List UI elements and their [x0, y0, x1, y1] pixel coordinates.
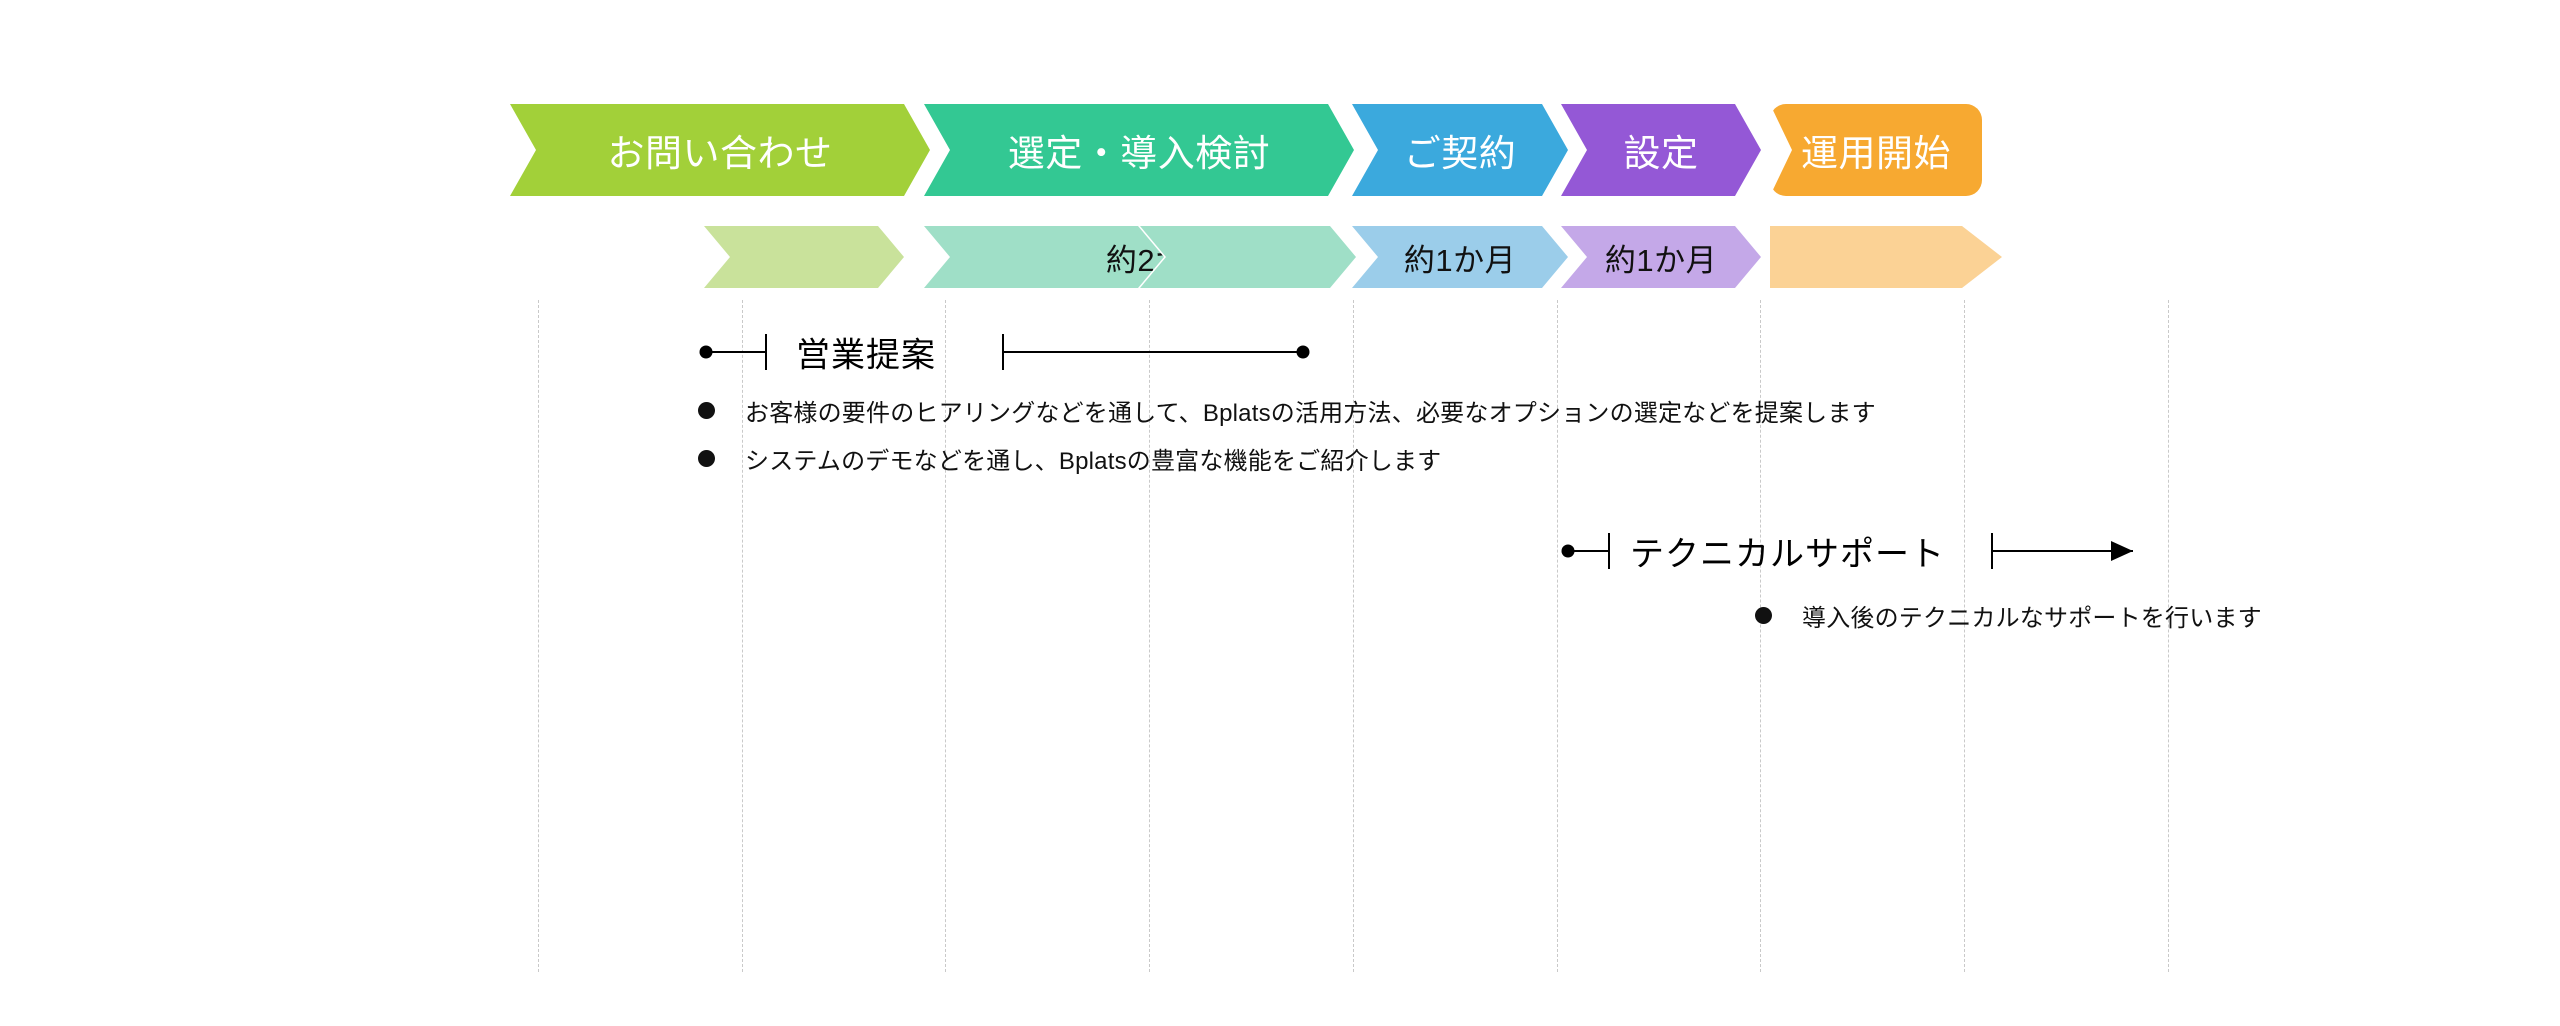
- track-line-right: [1003, 351, 1303, 353]
- track-label: テクニカルサポート: [1630, 527, 1945, 576]
- phase-chevron-1: 選定・導入検討: [924, 104, 1354, 196]
- track-line-left: [706, 351, 766, 353]
- duration-label: 約1か月: [1404, 235, 1516, 280]
- bullet-dot-icon: [698, 402, 715, 419]
- duration-chevron-1: 約2か月: [924, 226, 1164, 288]
- phase-label: 設定: [1624, 123, 1699, 177]
- duration-chevron-0: [704, 226, 904, 288]
- bullet-text: お客様の要件のヒアリングなどを通して、Bplatsの活用方法、必要なオプションの…: [745, 393, 1876, 428]
- track-label: 営業提案: [796, 328, 936, 377]
- phase-chevron-0: お問い合わせ: [510, 104, 930, 196]
- bullet-item: お客様の要件のヒアリングなどを通して、Bplatsの活用方法、必要なオプションの…: [698, 393, 1876, 428]
- gridline-7: [1964, 300, 1965, 972]
- duration-chevron-2: [1140, 226, 1356, 288]
- duration-chevron-5: [1770, 226, 2002, 288]
- bullet-text: 導入後のテクニカルなサポートを行います: [1802, 598, 2262, 633]
- bullet-dot-icon: [698, 450, 715, 467]
- phase-label: お問い合わせ: [608, 123, 833, 177]
- phase-chevron-4: 運用開始: [1770, 104, 1982, 196]
- track-end-arrow-icon: [2111, 541, 2133, 561]
- phase-chevron-3: 設定: [1561, 104, 1761, 196]
- duration-chevron-4: 約1か月: [1561, 226, 1761, 288]
- bullet-item: 導入後のテクニカルなサポートを行います: [1755, 598, 2262, 633]
- gridline-0: [538, 300, 539, 972]
- track-start-dot: [1562, 545, 1575, 558]
- duration-label: 約1か月: [1605, 235, 1717, 280]
- track-left-tick: [765, 334, 767, 370]
- bullet-dot-icon: [1755, 607, 1772, 624]
- track-end-dot: [1297, 346, 1310, 359]
- bullet-item: システムのデモなどを通し、Bplatsの豊富な機能をご紹介します: [698, 441, 1441, 476]
- phase-chevron-2: ご契約: [1352, 104, 1568, 196]
- track-start-dot: [700, 346, 713, 359]
- phase-label: 運用開始: [1801, 123, 1951, 177]
- phase-label: ご契約: [1404, 123, 1517, 177]
- bullet-text: システムのデモなどを通し、Bplatsの豊富な機能をご紹介します: [745, 441, 1441, 476]
- diagram-canvas: お問い合わせ選定・導入検討ご契約設定運用開始 約2か月約1か月約1か月 営業提案…: [0, 0, 2560, 1026]
- track-left-tick: [1608, 533, 1610, 569]
- phase-label: 選定・導入検討: [1008, 123, 1271, 177]
- gridline-8: [2168, 300, 2169, 972]
- duration-chevron-3: 約1か月: [1352, 226, 1568, 288]
